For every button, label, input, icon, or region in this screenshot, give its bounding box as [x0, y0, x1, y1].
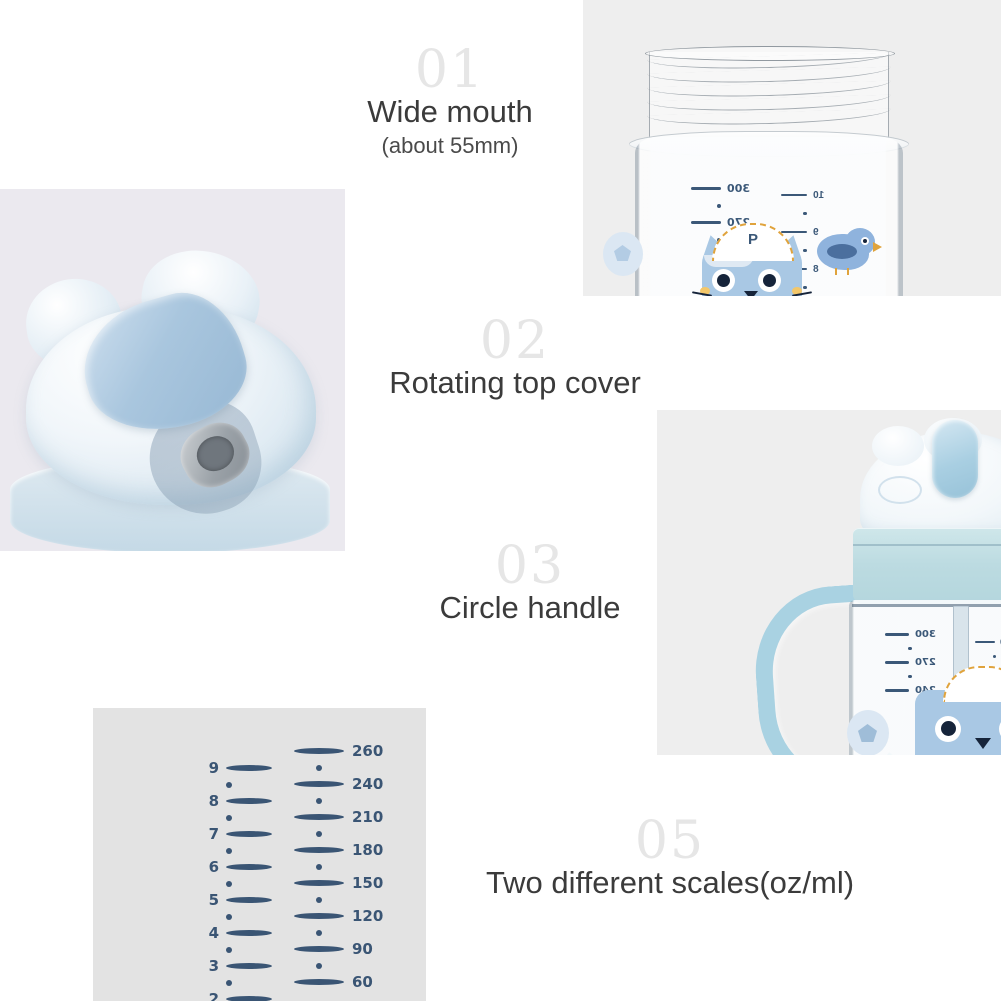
ml-scale-label: 210 [352, 808, 383, 826]
oz-scale-label: 9 [203, 759, 219, 777]
oz-minor-tick [226, 848, 232, 854]
oz-scale-label: 5 [203, 891, 219, 909]
oz-minor-tick [226, 815, 232, 821]
feature-number: 03 [400, 540, 660, 592]
oz-scale-label: 4 [203, 924, 219, 942]
oz-scale-label: 7 [203, 825, 219, 843]
cup-lid [860, 432, 1001, 540]
scale-tick [781, 194, 807, 197]
oz-minor-tick [226, 980, 232, 986]
ml-minor-tick [316, 963, 322, 969]
ml-scale-label: 90 [352, 940, 373, 958]
soccer-ball-icon [603, 232, 643, 276]
oz-scale-label: 6 [203, 858, 219, 876]
oz-tick-row: 6 [203, 857, 272, 877]
oz-major-tick [226, 765, 272, 771]
scale-label: 300 [915, 629, 939, 640]
ml-tick-row: 60 [294, 972, 383, 992]
ml-scale-label: 180 [352, 841, 383, 859]
ml-major-tick [294, 781, 344, 787]
ml-minor-tick-row [294, 860, 383, 873]
ml-minor-tick [316, 798, 322, 804]
scale-tick [885, 633, 909, 636]
oz-scale-column: 98765432 [203, 758, 272, 1001]
oz-minor-tick [226, 881, 232, 887]
feature-title: Rotating top cover [350, 365, 680, 401]
ml-major-tick [294, 814, 344, 820]
oz-minor-tick-row [203, 976, 272, 989]
oz-minor-tick [226, 914, 232, 920]
ml-minor-tick-row [294, 959, 383, 972]
ml-scale-label: 260 [352, 742, 383, 760]
oz-major-tick [226, 963, 272, 969]
oz-minor-tick [226, 947, 232, 953]
oz-major-tick [226, 798, 272, 804]
cat-graphic-icon: P [907, 668, 1001, 755]
ml-tick-row: 240 [294, 774, 383, 794]
ml-minor-tick-row [294, 761, 383, 774]
scale-label: 10 [813, 190, 827, 201]
oz-minor-tick-row [203, 910, 272, 923]
oz-tick-row: 3 [203, 956, 272, 976]
panel-dual-scale-diagram: 98765432 2602402101801501209060 [93, 708, 426, 1001]
ml-major-tick [294, 748, 344, 754]
feature-number: 05 [440, 815, 900, 867]
ml-scale-column: 2602402101801501209060 [294, 741, 383, 992]
panel-rotating-cover-photo [0, 189, 345, 551]
ml-major-tick [294, 847, 344, 853]
oz-minor-tick-row [203, 877, 272, 890]
ml-minor-tick-row [294, 794, 383, 807]
oz-major-tick [226, 996, 272, 1001]
ml-tick-row: 210 [294, 807, 383, 827]
ml-minor-tick-row [294, 827, 383, 840]
scale-minor-tick [993, 655, 996, 658]
oz-tick-row: 9 [203, 758, 272, 778]
scale-minor-tick [909, 647, 913, 651]
cup-button [932, 420, 978, 498]
scale-minor-tick [804, 212, 808, 216]
feature-block-01: 01 Wide mouth (about 55mm) [330, 44, 570, 159]
scale-label: 300 [727, 182, 753, 195]
feature-subtitle: (about 55mm) [330, 133, 570, 159]
ml-major-tick [294, 979, 344, 985]
oz-major-tick [226, 831, 272, 837]
panel-wide-mouth-photo: 300 270 10 9 8 7 P [583, 0, 1001, 296]
oz-tick-row: 2 [203, 989, 272, 1001]
ml-scale-label: 150 [352, 874, 383, 892]
oz-minor-tick-row [203, 811, 272, 824]
ml-minor-tick [316, 897, 322, 903]
oz-tick-row: 8 [203, 791, 272, 811]
bottle-illustration: 300 270 10 9 8 7 P [583, 0, 1001, 296]
ml-scale-label: 240 [352, 775, 383, 793]
cat-graphic-icon: P [696, 225, 808, 296]
oz-minor-tick-row [203, 778, 272, 791]
feature-title: Wide mouth [330, 94, 570, 130]
oz-major-tick [226, 864, 272, 870]
panel-circle-handle-photo: 300 270 240 10 9 P [657, 410, 1001, 755]
ml-minor-tick [316, 864, 322, 870]
ml-minor-tick-row [294, 893, 383, 906]
soccer-ball-icon [847, 710, 889, 755]
ml-minor-tick [316, 765, 322, 771]
oz-scale-label: 2 [203, 990, 219, 1001]
scale-tick [885, 689, 909, 692]
ml-major-tick [294, 880, 344, 886]
ml-major-tick [294, 913, 344, 919]
ml-tick-row: 120 [294, 906, 383, 926]
feature-title: Circle handle [400, 590, 660, 626]
oz-minor-tick-row [203, 844, 272, 857]
ml-minor-tick [316, 930, 322, 936]
feature-block-02: 02 Rotating top cover [350, 315, 680, 401]
ml-tick-row: 150 [294, 873, 383, 893]
oz-major-tick [226, 897, 272, 903]
bird-graphic-icon [817, 228, 881, 276]
scale-tick [691, 187, 721, 190]
ml-tick-row: 90 [294, 939, 383, 959]
feature-title: Two different scales(oz/ml) [440, 865, 900, 901]
oz-tick-row: 4 [203, 923, 272, 943]
oz-scale-label: 3 [203, 957, 219, 975]
oz-minor-tick [226, 782, 232, 788]
ml-scale-label: 120 [352, 907, 383, 925]
feature-block-05: 05 Two different scales(oz/ml) [440, 815, 900, 901]
ml-minor-tick [316, 831, 322, 837]
scale-tick [691, 221, 721, 224]
oz-scale-label: 8 [203, 792, 219, 810]
scale-label: 270 [915, 657, 939, 668]
ml-major-tick [294, 946, 344, 952]
cup-collar [853, 528, 1001, 604]
feature-block-03: 03 Circle handle [400, 540, 660, 626]
oz-tick-row: 5 [203, 890, 272, 910]
scale-tick [975, 641, 995, 643]
scale-tick [885, 661, 909, 664]
ml-tick-row: 180 [294, 840, 383, 860]
scale-minor-tick [717, 204, 721, 208]
oz-major-tick [226, 930, 272, 936]
oz-tick-row: 7 [203, 824, 272, 844]
ml-scale-label: 60 [352, 973, 373, 991]
ml-minor-tick-row [294, 926, 383, 939]
feature-number: 01 [330, 44, 570, 96]
feature-number: 02 [350, 315, 680, 367]
oz-minor-tick-row [203, 943, 272, 956]
ml-tick-row: 260 [294, 741, 383, 761]
